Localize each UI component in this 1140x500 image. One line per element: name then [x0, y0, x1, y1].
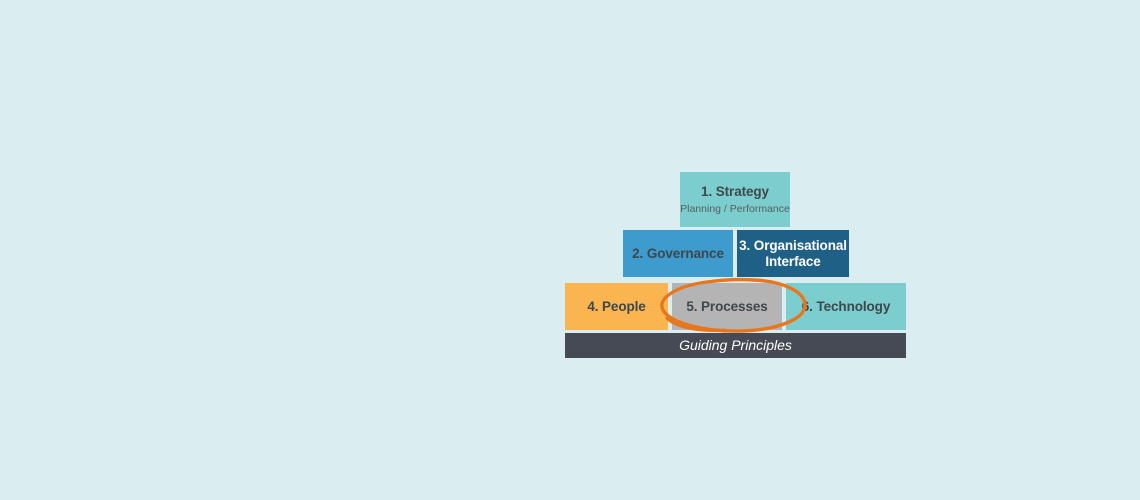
diagram-box-strategy-title: 1. Strategy [701, 184, 769, 200]
diagram-box-processes-title: 5. Processes [686, 299, 767, 315]
diagram-box-governance-title: 2. Governance [632, 246, 724, 262]
diagram-box-technology-title: 6. Technology [802, 299, 890, 315]
diagram-box-governance[interactable]: 2. Governance [623, 230, 733, 277]
diagram-box-organisational-interface-title: 3. Organisational Interface [737, 238, 849, 269]
diagram-box-people-title: 4. People [587, 299, 645, 315]
diagram-box-organisational-interface[interactable]: 3. Organisational Interface [737, 230, 849, 277]
operating-model-pyramid: 1. Strategy Planning / Performance 2. Go… [565, 172, 906, 358]
diagram-box-guiding-principles[interactable]: Guiding Principles [565, 333, 906, 358]
diagram-box-strategy-subtitle: Planning / Performance [680, 203, 790, 215]
diagram-box-guiding-principles-title: Guiding Principles [679, 337, 792, 353]
diagram-box-technology[interactable]: 6. Technology [786, 283, 906, 330]
diagram-box-processes[interactable]: 5. Processes [672, 283, 782, 330]
diagram-box-strategy[interactable]: 1. Strategy Planning / Performance [680, 172, 790, 227]
diagram-box-people[interactable]: 4. People [565, 283, 668, 330]
